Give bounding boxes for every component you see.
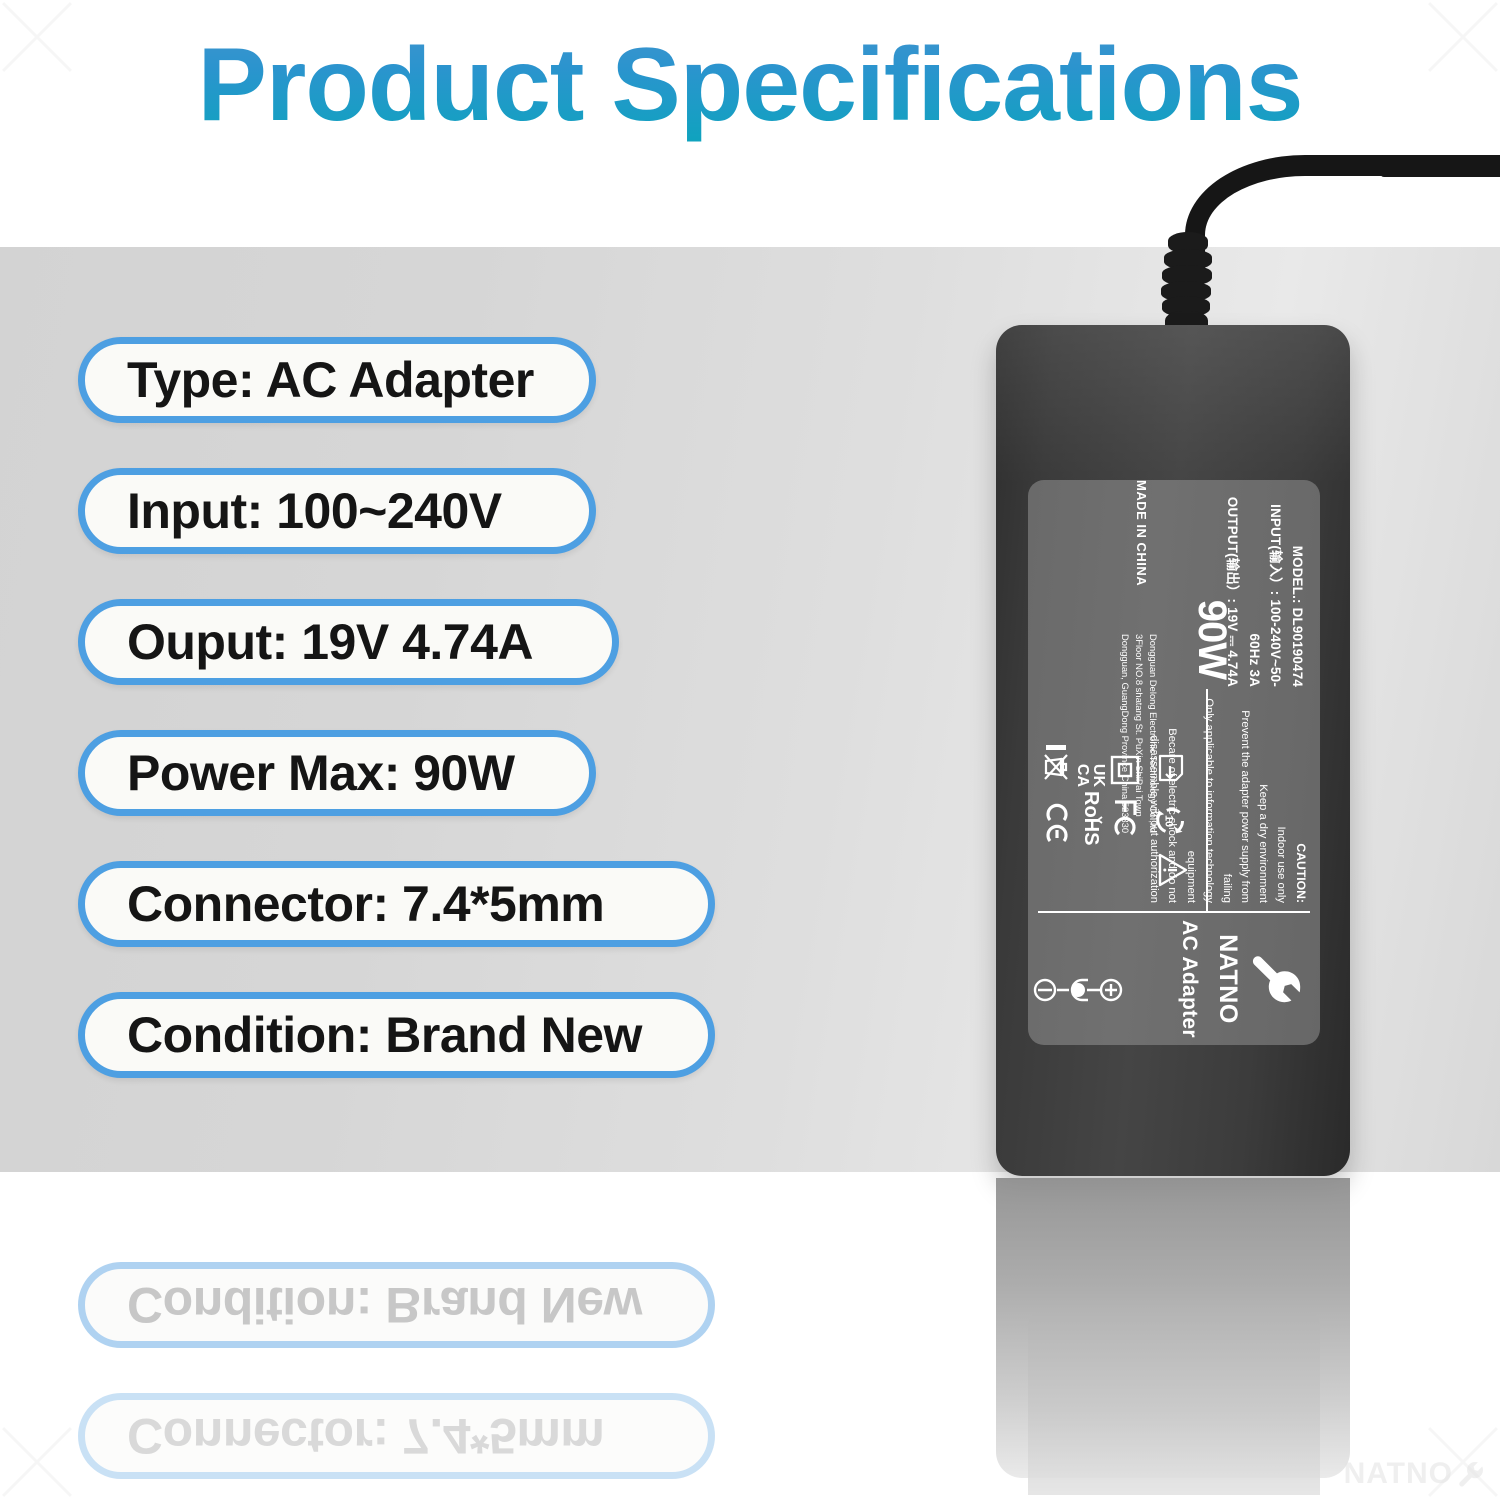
- spec-label-type: Type: AC Adapter: [127, 351, 534, 409]
- spec-pill-condition: Condition: Brand New: [78, 992, 715, 1078]
- spec-label-connector-reflection: Connector: 7.4*5mm: [127, 1407, 604, 1465]
- watermark-wrench-icon: [1456, 1459, 1486, 1489]
- spec-pill-power: Power Max: 90W: [78, 730, 596, 816]
- spec-label-power: Power Max: 90W: [127, 744, 515, 802]
- watermark-text: NATNO: [1344, 1457, 1453, 1491]
- spec-pill-connector-reflection: Connector: 7.4*5mm: [78, 1393, 715, 1479]
- spec-label-condition-reflection: Condition: Brand New: [127, 1276, 642, 1334]
- spec-label-condition: Condition: Brand New: [127, 1006, 642, 1064]
- spec-label-input: Input: 100~240V: [127, 482, 502, 540]
- spec-label-output: Ouput: 19V 4.74A: [127, 613, 533, 671]
- crop-mark-bottom-left: [0, 1419, 80, 1505]
- brand-watermark: NATNO: [1344, 1457, 1486, 1491]
- spec-pill-output: Ouput: 19V 4.74A: [78, 599, 619, 685]
- adapter-body-reflection: [996, 1178, 1350, 1478]
- spec-pill-input: Input: 100~240V: [78, 468, 596, 554]
- spec-pill-condition-reflection: Condition: Brand New: [78, 1262, 715, 1348]
- spec-pill-connector: Connector: 7.4*5mm: [78, 861, 715, 947]
- page-title: Product Specifications: [0, 28, 1500, 142]
- power-cable-tail: [1380, 155, 1500, 177]
- spec-pill-type: Type: AC Adapter: [78, 337, 596, 423]
- spec-label-connector: Connector: 7.4*5mm: [127, 875, 604, 933]
